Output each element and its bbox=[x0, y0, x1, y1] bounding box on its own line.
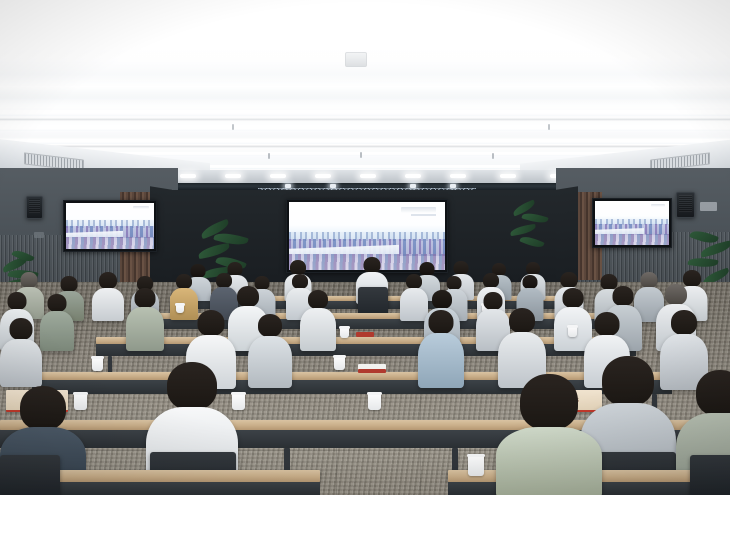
wall-speaker-left bbox=[26, 196, 43, 219]
ceiling-downlight bbox=[360, 174, 376, 178]
right-monitor-content bbox=[595, 201, 669, 245]
tea-cup bbox=[92, 356, 103, 371]
attendee bbox=[300, 290, 336, 350]
speaker-grill bbox=[679, 195, 692, 212]
attendee bbox=[40, 294, 74, 350]
screen-watermark-line bbox=[411, 214, 436, 216]
attendee bbox=[248, 314, 292, 386]
conference-room-photo: 干子右 张建华 bbox=[0, 0, 730, 495]
letterbox-white-band bbox=[0, 495, 730, 548]
tea-cup bbox=[176, 303, 184, 313]
truss-spotlight bbox=[410, 184, 416, 188]
potted-plant-back bbox=[508, 200, 554, 260]
red-booklet bbox=[358, 369, 386, 373]
tea-cup bbox=[334, 355, 345, 370]
left-monitor-content bbox=[66, 203, 154, 249]
ceiling-seam bbox=[0, 118, 730, 121]
tea-cup bbox=[468, 454, 484, 476]
red-booklet bbox=[356, 332, 374, 337]
ceiling-downlight bbox=[500, 174, 516, 178]
sprinkler-head-icon bbox=[232, 124, 234, 130]
ceiling-light-strip bbox=[0, 110, 730, 116]
left-wall-monitor bbox=[63, 200, 157, 252]
ceiling-light-strip bbox=[0, 139, 730, 144]
wall-speaker-right bbox=[676, 192, 695, 218]
audience-chair bbox=[0, 455, 60, 495]
attendee bbox=[418, 310, 464, 386]
screen-watermark bbox=[401, 207, 435, 213]
truss-spotlight bbox=[285, 184, 291, 188]
attendee-foreground bbox=[496, 374, 602, 495]
ceiling-seam bbox=[0, 145, 730, 148]
tea-cup bbox=[568, 325, 577, 337]
screenshot-root: 干子右 张建华 bbox=[0, 0, 730, 548]
sprinkler-head-icon bbox=[492, 153, 494, 159]
sprinkler-head-icon bbox=[548, 124, 550, 130]
smoke-detector-icon bbox=[345, 52, 367, 67]
tea-cup bbox=[340, 326, 349, 338]
ceiling-downlight bbox=[180, 174, 196, 178]
truss-spotlight bbox=[330, 184, 336, 188]
carpet-seam bbox=[336, 300, 337, 495]
ceiling-downlight bbox=[270, 174, 286, 178]
tea-cup bbox=[368, 392, 381, 410]
wall-room-sign bbox=[700, 202, 717, 211]
right-wall-monitor bbox=[592, 198, 672, 248]
attendee bbox=[0, 318, 42, 386]
truss-spotlight bbox=[450, 184, 456, 188]
ceiling-downlight bbox=[450, 174, 466, 178]
wall-control-plate bbox=[34, 232, 44, 238]
speaker-grill bbox=[29, 199, 40, 213]
ceiling-panel bbox=[0, 131, 730, 138]
attendee bbox=[126, 288, 164, 350]
audience-chair bbox=[690, 455, 730, 495]
ceiling-downlight bbox=[405, 174, 421, 178]
sprinkler-head-icon bbox=[360, 152, 362, 158]
ceiling-downlight bbox=[315, 174, 331, 178]
attendee bbox=[92, 272, 124, 320]
ceiling-downlight bbox=[225, 174, 241, 178]
sprinkler-head-icon bbox=[268, 153, 270, 159]
